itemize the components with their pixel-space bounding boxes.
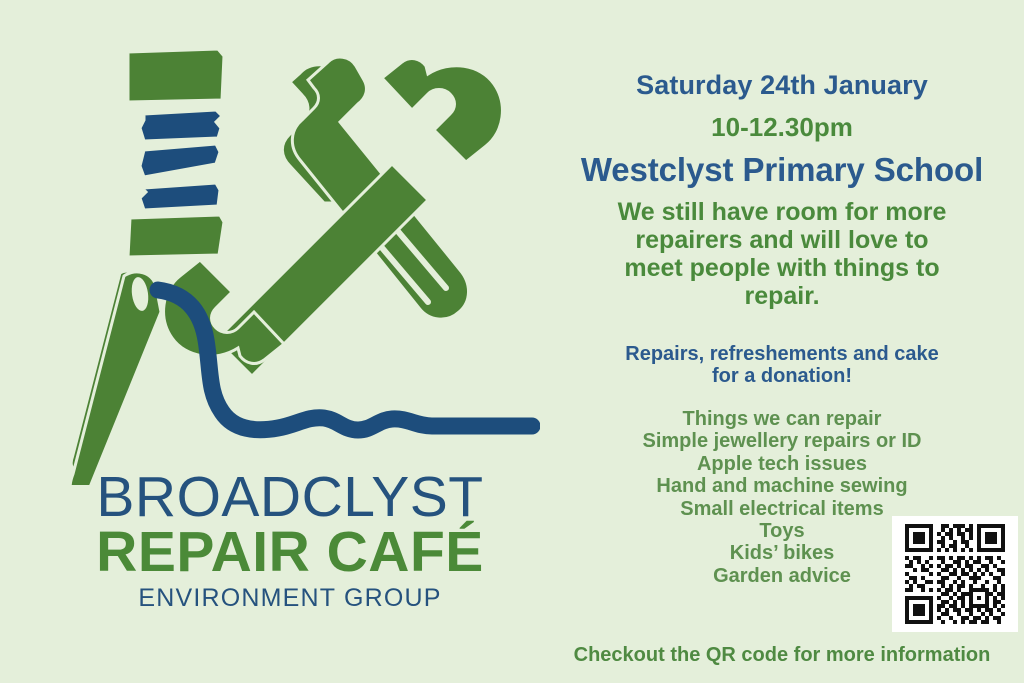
blurb-line: meet people with things to: [540, 254, 1024, 282]
event-venue: Westclyst Primary School: [540, 152, 1024, 189]
logo-mark: [40, 40, 540, 485]
logo-graphic: [40, 40, 540, 485]
sewing-needle-icon: [70, 272, 161, 485]
qr-code[interactable]: [892, 516, 1018, 632]
refreshments-line: for a donation!: [540, 365, 1024, 387]
logo-wordmark-line1: BROADCLYST: [40, 470, 540, 526]
event-date: Saturday 24th January: [540, 70, 1024, 100]
refreshments-line: Repairs, refreshements and cake: [540, 343, 1024, 365]
event-time: 10-12.30pm: [540, 113, 1024, 142]
poster: BROADCLYST REPAIR CAFÉ ENVIRONMENT GROUP…: [0, 0, 1024, 683]
list-item: Simple jewellery repairs or ID: [540, 430, 1024, 452]
refreshments-note: Repairs, refreshements and cake for a do…: [540, 343, 1024, 388]
repair-list-heading: Things we can repair: [540, 408, 1024, 430]
blurb-line: We still have room for more: [540, 198, 1024, 226]
blurb-line: repairers and will love to: [540, 226, 1024, 254]
qr-code-icon[interactable]: [892, 516, 1018, 632]
logo-wordmark-line3: ENVIRONMENT GROUP: [40, 585, 540, 613]
qr-caption: Checkout the QR code for more informatio…: [540, 644, 1024, 666]
logo: BROADCLYST REPAIR CAFÉ ENVIRONMENT GROUP: [40, 40, 540, 650]
thread-spool-icon: [128, 49, 224, 257]
logo-wordmark-line2: REPAIR CAFÉ: [40, 524, 540, 581]
blurb-line: repair.: [540, 282, 1024, 310]
list-item: Apple tech issues: [540, 453, 1024, 475]
event-blurb: We still have room for more repairers an…: [540, 198, 1024, 310]
logo-wordmark: BROADCLYST REPAIR CAFÉ ENVIRONMENT GROUP: [40, 470, 540, 612]
list-item: Hand and machine sewing: [540, 475, 1024, 497]
